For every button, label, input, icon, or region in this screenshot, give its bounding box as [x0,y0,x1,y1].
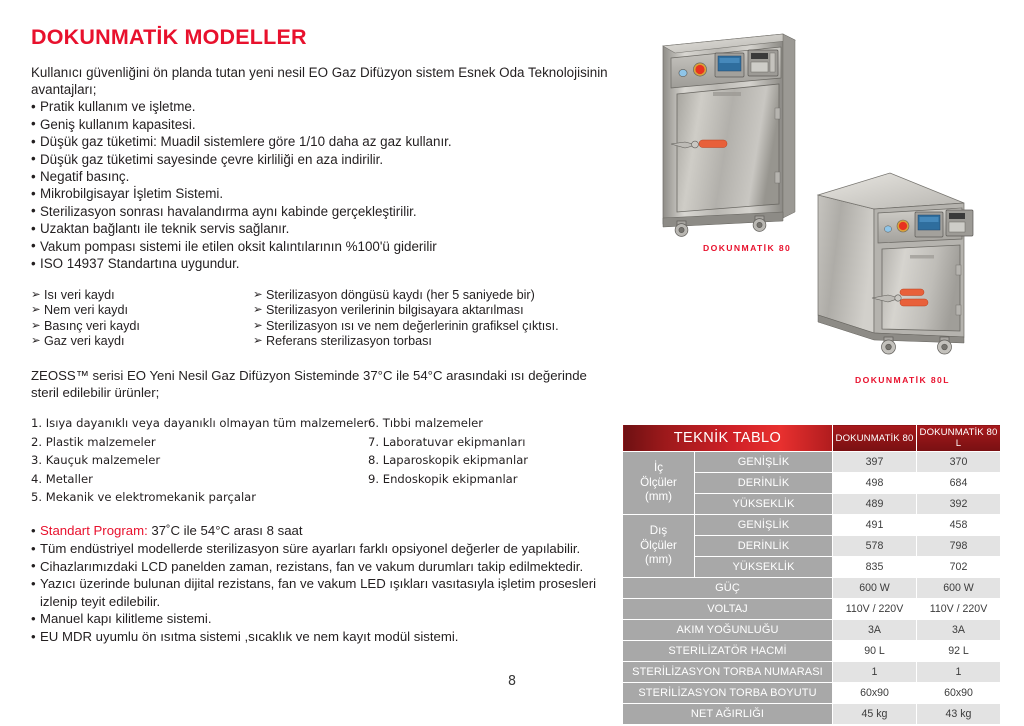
cell-value: 3A [917,620,1001,641]
cell-value: 458 [917,515,1001,536]
cell-value: 110V / 220V [833,599,917,620]
cell-value: 684 [917,473,1001,494]
group-label-line-3: (mm) [645,490,672,503]
list-item: Sterilizasyon sonrası havalandırma aynı … [31,203,611,220]
materials-column-left: 1. Isıya dayanıklı veya dayanıklı olmaya… [31,414,368,506]
list-item: Basınç veri kaydı [31,319,253,335]
list-item: Negatif basınç. [31,168,611,185]
list-item: 9. Endoskopik ekipmanlar [368,470,528,488]
list-item: Referans sterilizasyon torbası [253,334,603,350]
row-label: GENİŞLİK [695,452,833,473]
row-label: STERİLİZATÖR HACMİ [623,641,833,662]
list-item: Düşük gaz tüketimi sayesinde çevre kirli… [31,151,611,168]
list-item: 7. Laboratuvar ekipmanları [368,433,528,451]
list-item: Sterilizasyon döngüsü kaydı (her 5 saniy… [253,288,603,304]
table-row: AKIM YOĞUNLUĞU 3A 3A [623,620,1001,641]
list-item: Manuel kapı kilitleme sistemi. [31,610,611,628]
program-notes-list: Standart Program: 37˚C ile 54°C arası 8 … [31,522,611,645]
list-item: Nem veri kaydı [31,303,253,319]
list-item: Pratik kullanım ve işletme. [31,98,611,115]
list-item: Gaz veri kaydı [31,334,253,350]
zeoss-paragraph: ZEOSS™ serisi EO Yeni Nesil Gaz Difüzyon… [31,367,611,401]
standard-program-item: Standart Program: 37˚C ile 54°C arası 8 … [31,522,611,540]
cell-value: 92 L [917,641,1001,662]
sterilizable-materials: 1. Isıya dayanıklı veya dayanıklı olmaya… [31,414,611,506]
list-item: 8. Laparoskopik ekipmanlar [368,451,528,469]
cell-value: 90 L [833,641,917,662]
cell-value: 498 [833,473,917,494]
list-item: 4. Metaller [31,470,368,488]
page-title: DOKUNMATİK MODELLER [31,26,611,50]
list-item: Cihazlarımızdaki LCD panelden zaman, rez… [31,558,611,576]
advantages-list: Pratik kullanım ve işletme. Geniş kullan… [31,98,611,272]
cell-value: 1 [917,662,1001,683]
list-item: Sterilizasyon verilerinin bilgisayara ak… [253,303,603,319]
table-row: STERİLİZASYON TORBA BOYUTU 60x90 60x90 [623,683,1001,704]
list-item: 2. Plastik malzemeler [31,433,368,451]
row-label: YÜKSEKLİK [695,557,833,578]
row-label: GENİŞLİK [695,515,833,536]
table-row: STERİLİZASYON TORBA NUMARASI 1 1 [623,662,1001,683]
list-item: Isı veri kaydı [31,288,253,304]
materials-column-right: 6. Tıbbi malzemeler 7. Laboratuvar ekipm… [368,414,528,488]
content-column: DOKUNMATİK MODELLER Kullanıcı güvenliğin… [31,26,611,659]
table-row: GÜÇ 600 W 600 W [623,578,1001,599]
photo-caption-dokunmatik-80: DOKUNMATİK 80 [703,243,791,253]
list-item: ISO 14937 Standartına uygundur. [31,255,611,272]
row-label: DERİNLİK [695,536,833,557]
technical-specifications-table: TEKNİK TABLO DOKUNMATİK 80 DOKUNMATİK 80… [622,424,1001,725]
features-column-right: Sterilizasyon döngüsü kaydı (her 5 saniy… [253,288,603,350]
list-item: Mikrobilgisayar İşletim Sistemi. [31,185,611,202]
cell-value: 60x90 [833,683,917,704]
list-item: Tüm endüstriyel modellerde sterilizasyon… [31,540,611,558]
data-recording-features: Isı veri kaydı Nem veri kaydı Basınç ver… [31,288,611,350]
row-label: AKIM YOĞUNLUĞU [623,620,833,641]
cell-value: 600 W [917,578,1001,599]
cell-value: 798 [917,536,1001,557]
row-label: NET AĞIRLIĞI [623,704,833,725]
column-header-model-2: DOKUNMATİK 80 L [917,425,1001,452]
photo-caption-dokunmatik-80l: DOKUNMATİK 80L [855,375,950,385]
standard-program-label: Standart Program: [40,523,148,538]
table-row: İç Ölçüler (mm) GENİŞLİK 397 370 [623,452,1001,473]
list-item: 1. Isıya dayanıklı veya dayanıklı olmaya… [31,414,368,432]
cell-value: 600 W [833,578,917,599]
list-item: Vakum pompası sistemi ile etilen oksit k… [31,238,611,255]
list-item: 5. Mekanik ve elektromekanik parçalar [31,488,368,506]
list-item: EU MDR uyumlu ön ısıtma sistemi ,sıcaklı… [31,628,611,646]
table-header-row: TEKNİK TABLO DOKUNMATİK 80 DOKUNMATİK 80… [623,425,1001,452]
cell-value: 43 kg [917,704,1001,725]
list-item: 3. Kauçuk malzemeler [31,451,368,469]
table-title: TEKNİK TABLO [623,425,833,452]
cell-value: 3A [833,620,917,641]
row-label: STERİLİZASYON TORBA NUMARASI [623,662,833,683]
cell-value: 835 [833,557,917,578]
group-label-line-2: Ölçüler [640,476,677,489]
cell-value: 45 kg [833,704,917,725]
row-label: GÜÇ [623,578,833,599]
table-row: Dış Ölçüler (mm) GENİŞLİK 491 458 [623,515,1001,536]
cell-value: 489 [833,494,917,515]
cell-value: 110V / 220V [917,599,1001,620]
column-header-model-1: DOKUNMATİK 80 [833,425,917,452]
row-label: VOLTAJ [623,599,833,620]
row-label: YÜKSEKLİK [695,494,833,515]
group-label-line-3: (mm) [645,553,672,566]
group-label-line-2: Ölçüler [640,539,677,552]
cell-value: 370 [917,452,1001,473]
cell-value: 702 [917,557,1001,578]
list-item: 6. Tıbbi malzemeler [368,414,528,432]
row-label: STERİLİZASYON TORBA BOYUTU [623,683,833,704]
list-item: Sterilizasyon ısı ve nem değerlerinin gr… [253,319,603,335]
features-column-left: Isı veri kaydı Nem veri kaydı Basınç ver… [31,288,253,350]
cell-value: 578 [833,536,917,557]
list-item: Geniş kullanım kapasitesi. [31,116,611,133]
table-row: VOLTAJ 110V / 220V 110V / 220V [623,599,1001,620]
cell-value: 491 [833,515,917,536]
cell-value: 392 [917,494,1001,515]
cell-value: 60x90 [917,683,1001,704]
table-row: STERİLİZATÖR HACMİ 90 L 92 L [623,641,1001,662]
standard-program-value: 37˚C ile 54°C arası 8 saat [148,523,303,538]
group-label-line-1: İç [654,461,663,474]
product-photo-dokunmatik-80 [655,22,815,238]
group-label-line-1: Dış [650,524,667,537]
cell-value: 397 [833,452,917,473]
group-label-external-dimensions: Dış Ölçüler (mm) [623,515,695,578]
group-label-internal-dimensions: İç Ölçüler (mm) [623,452,695,515]
cell-value: 1 [833,662,917,683]
intro-paragraph: Kullanıcı güvenliğini ön planda tutan ye… [31,64,611,99]
list-item: Düşük gaz tüketimi: Muadil sistemlere gö… [31,133,611,150]
table-row: NET AĞIRLIĞI 45 kg 43 kg [623,704,1001,725]
list-item: Yazıcı üzerinde bulunan dijital rezistan… [31,575,611,610]
list-item: Uzaktan bağlantı ile teknik servis sağla… [31,220,611,237]
product-photo-dokunmatik-80l [812,165,1012,365]
row-label: DERİNLİK [695,473,833,494]
